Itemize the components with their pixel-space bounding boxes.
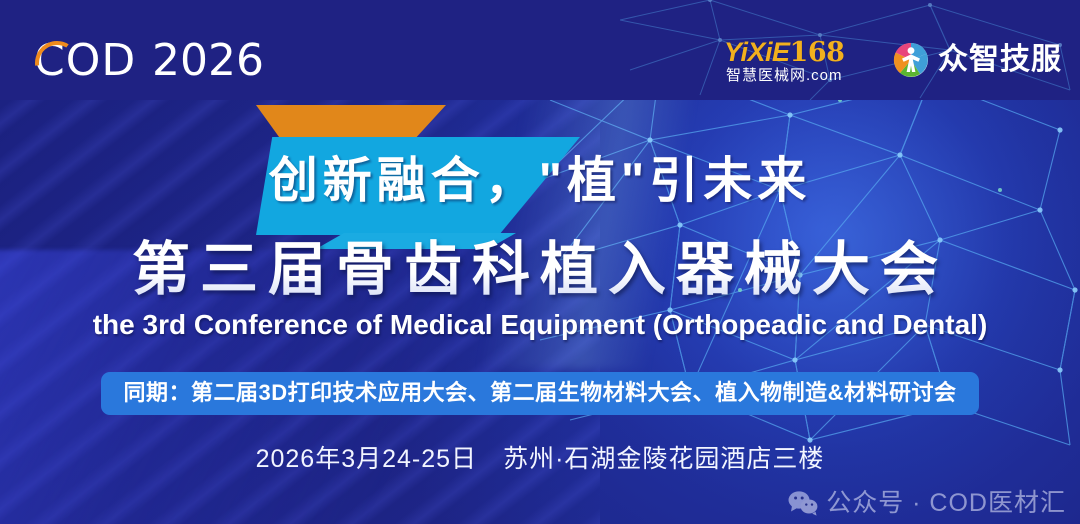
poster-slogan: 创新融合，"植"引未来	[0, 152, 1080, 210]
concurrent-banner: 同期：第二届3D打印技术应用大会、第二届生物材料大会、植入物制造&材料研讨会	[101, 372, 978, 415]
poster-header: COD 2026 YiXiE168 智慧医械网.com 众智技服	[0, 0, 1080, 100]
cod-logo: COD 2026	[34, 40, 210, 82]
conference-poster: COD 2026 YiXiE168 智慧医械网.com 众智技服	[0, 0, 1080, 524]
yixie168-logo-main: YiXiE168	[724, 38, 844, 67]
yixie168-word: YiXiE	[724, 37, 790, 67]
zhongzhi-jifu-text: 众智技服	[938, 44, 1062, 76]
date-venue-line: 2026年3月24-25日苏州·石湖金陵花园酒店三楼	[0, 443, 1080, 475]
yixie168-number: 168	[790, 37, 845, 68]
poster-title-en: the 3rd Conference of Medical Equipment …	[0, 308, 1080, 342]
event-date: 2026年3月24-25日	[256, 445, 477, 473]
concurrent-banner-wrap: 同期：第二届3D打印技术应用大会、第二届生物材料大会、植入物制造&材料研讨会	[0, 372, 1080, 415]
zhongzhi-jifu-logo: 众智技服	[893, 42, 1062, 78]
watermark: 公众号 · COD医材汇	[788, 488, 1066, 518]
wechat-icon	[788, 490, 818, 516]
poster-title-cn: 第三届骨齿科植入器械大会	[0, 236, 1080, 304]
event-venue: 苏州·石湖金陵花园酒店三楼	[503, 445, 824, 473]
watermark-text: 公众号 · COD医材汇	[826, 488, 1066, 518]
person-circle-logo-icon	[893, 42, 929, 78]
yixie168-logo-sub: 智慧医械网.com	[724, 67, 844, 85]
cod-logo-year: 2026	[152, 40, 264, 82]
yixie168-logo: YiXiE168 智慧医械网.com	[724, 38, 844, 85]
